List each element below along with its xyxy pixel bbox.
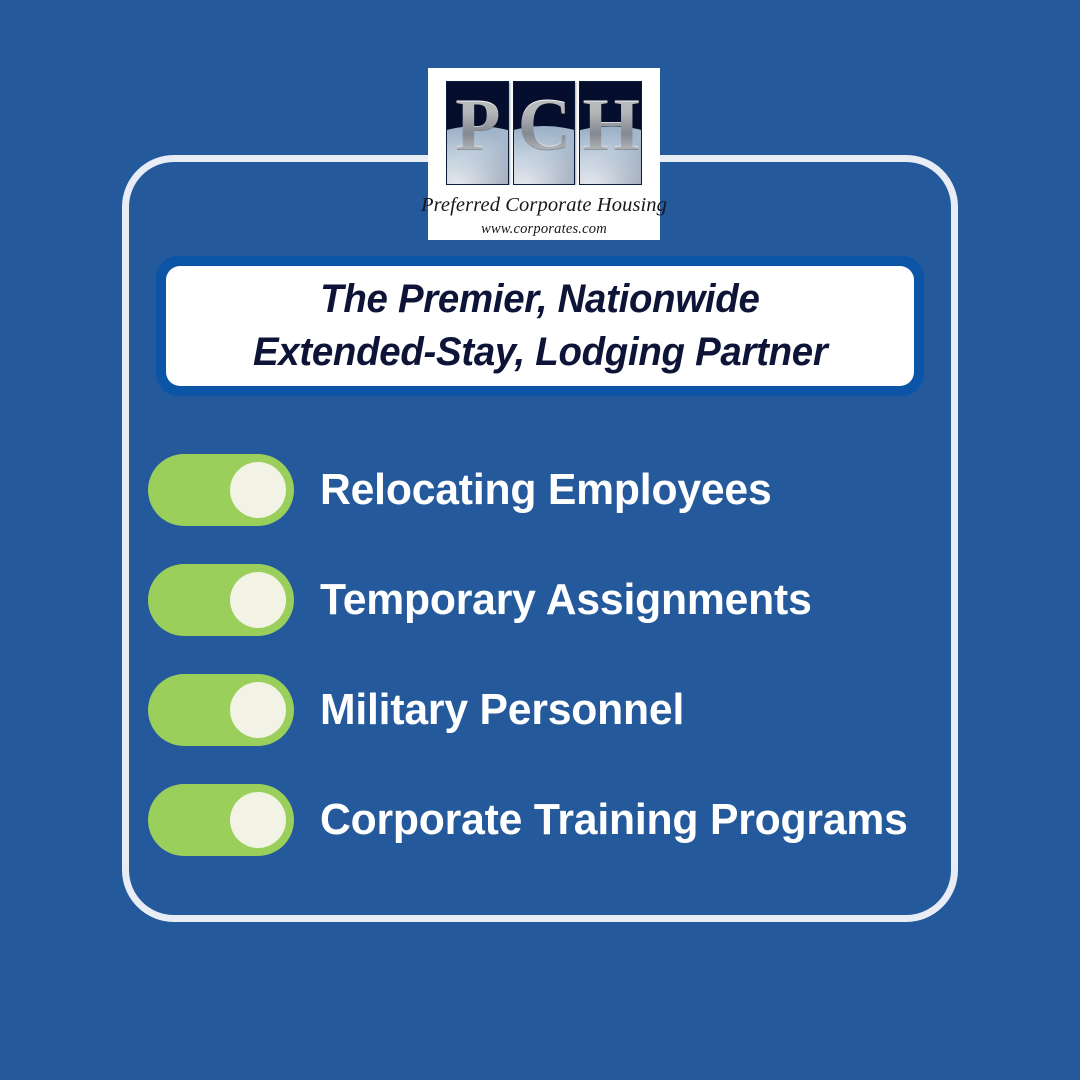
logo-panel-p: P [446, 81, 509, 185]
logo-letter-p: P [455, 88, 499, 162]
list-item: Corporate Training Programs [148, 765, 948, 875]
list-item-label: Temporary Assignments [320, 578, 812, 622]
logo-letter-c: C [518, 88, 570, 162]
list-item-label: Military Personnel [320, 688, 684, 732]
list-item-label: Corporate Training Programs [320, 798, 908, 842]
toggle-military-personnel[interactable] [148, 674, 294, 746]
logo-panels: P C H [446, 81, 642, 185]
headline-line-2: Extended-Stay, Lodging Partner [253, 326, 828, 379]
list-item: Relocating Employees [148, 435, 948, 545]
logo-letter-h: H [582, 88, 639, 162]
logo-company-name: Preferred Corporate Housing [421, 194, 667, 217]
toggle-knob-icon [230, 572, 286, 628]
list-item-label: Relocating Employees [320, 468, 772, 512]
toggle-temporary-assignments[interactable] [148, 564, 294, 636]
headline-line-1: The Premier, Nationwide [320, 273, 759, 326]
headline-banner: The Premier, Nationwide Extended-Stay, L… [156, 256, 924, 396]
logo-panel-h: H [579, 81, 642, 185]
toggle-corporate-training-programs[interactable] [148, 784, 294, 856]
headline-banner-inner: The Premier, Nationwide Extended-Stay, L… [166, 266, 914, 386]
toggle-knob-icon [230, 462, 286, 518]
logo-panel-c: C [513, 81, 576, 185]
poster-canvas: P C H Preferred Corporate Housing www.co… [0, 0, 1080, 1080]
list-item: Temporary Assignments [148, 545, 948, 655]
feature-list: Relocating Employees Temporary Assignmen… [148, 435, 948, 875]
logo-website: www.corporates.com [481, 221, 607, 238]
toggle-relocating-employees[interactable] [148, 454, 294, 526]
pch-logo: P C H Preferred Corporate Housing www.co… [428, 68, 660, 240]
list-item: Military Personnel [148, 655, 948, 765]
toggle-knob-icon [230, 682, 286, 738]
toggle-knob-icon [230, 792, 286, 848]
